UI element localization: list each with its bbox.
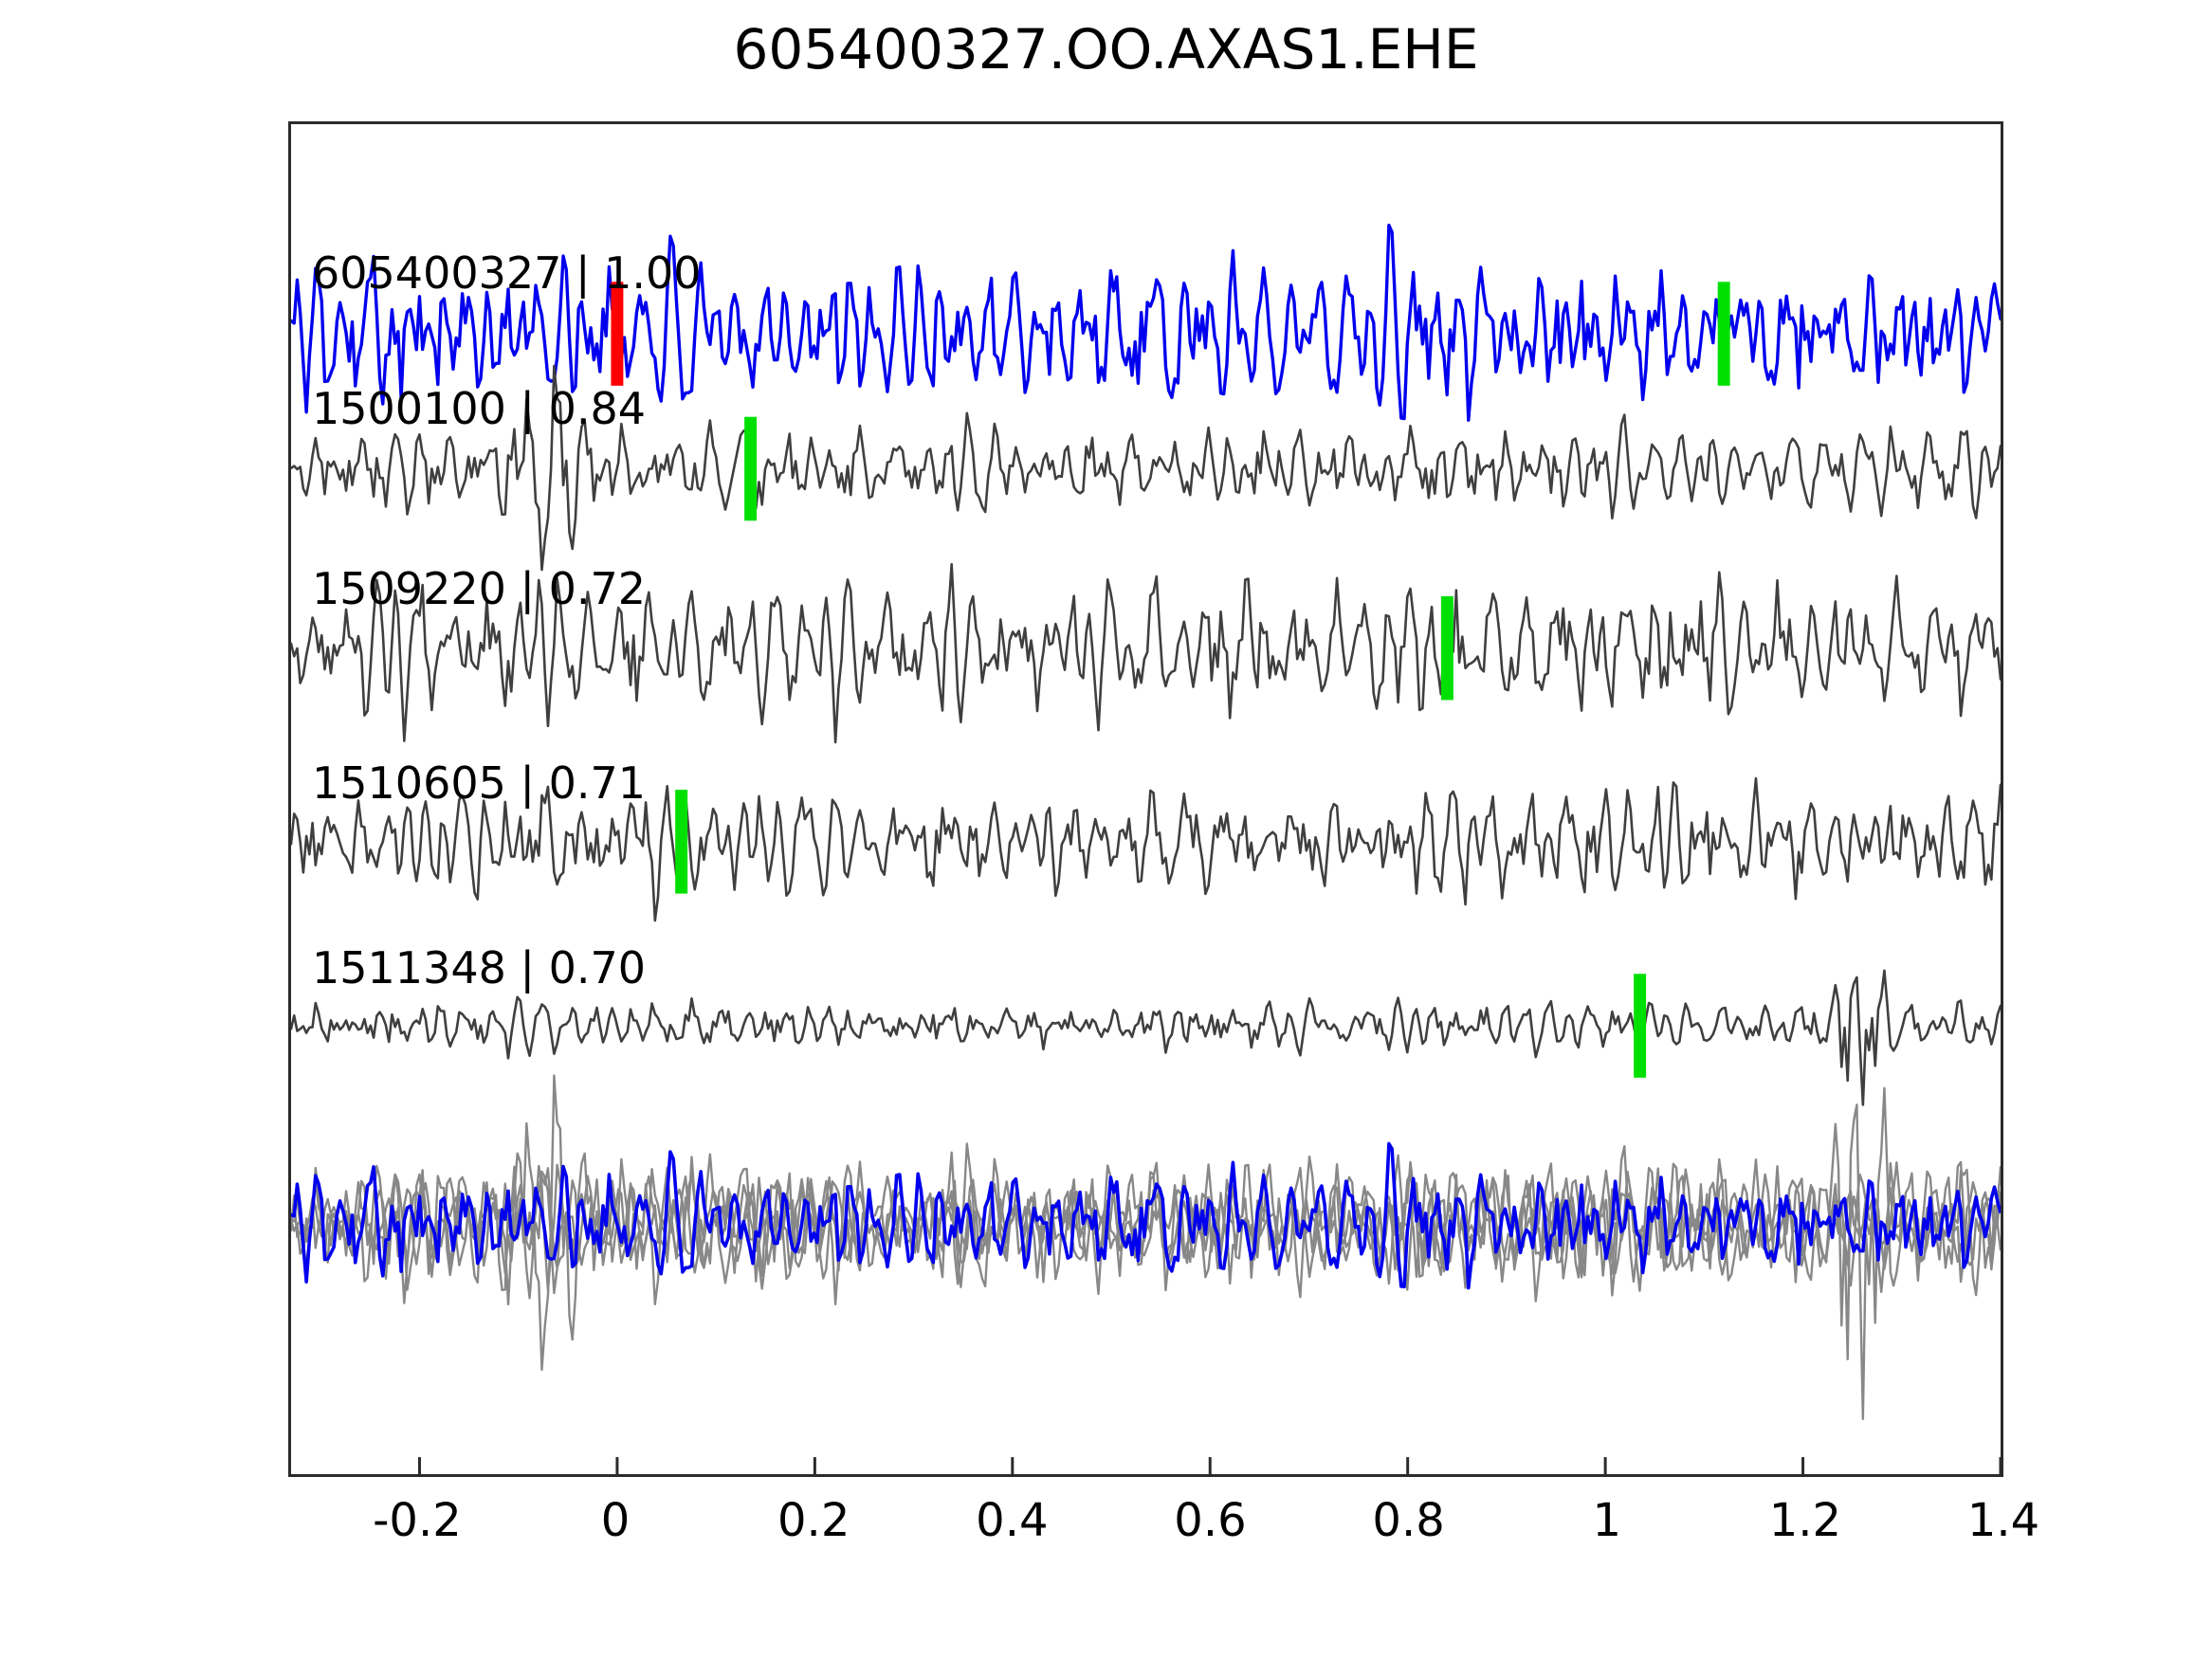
- x-tick-label: 1.2: [1769, 1494, 1841, 1547]
- x-tick-label: 0.4: [976, 1494, 1048, 1547]
- x-tick-label: -0.2: [373, 1494, 462, 1547]
- trace-label: 1509220 | 0.72: [312, 563, 646, 614]
- x-tick-label: 0.2: [777, 1494, 850, 1547]
- figure-root: 605400327.OO.AXAS1.EHE 605400327 | 1.001…: [0, 0, 2212, 1659]
- trace-label: 1500100 | 0.84: [312, 383, 646, 434]
- x-tick-label: 0: [601, 1494, 631, 1547]
- detection-pick-marker: [744, 417, 757, 521]
- trace-label: 605400327 | 1.00: [312, 247, 702, 299]
- overlay-reference-trace: [291, 1143, 2001, 1287]
- detection-pick-marker: [675, 790, 687, 894]
- page-title: 605400327.OO.AXAS1.EHE: [0, 17, 2212, 82]
- detection-pick-marker: [1634, 974, 1646, 1078]
- trace-label: 1510605 | 0.71: [312, 757, 646, 809]
- detection-pick-marker: [1441, 596, 1453, 701]
- trace-label: 1511348 | 0.70: [312, 942, 646, 994]
- x-tick-label: 0.6: [1174, 1494, 1246, 1547]
- x-tick-label: 1: [1592, 1494, 1621, 1547]
- x-tick-label: 1.4: [1967, 1494, 2039, 1547]
- pick-markers-group: [611, 282, 1729, 1077]
- x-axis-tick-labels: -0.200.20.40.60.811.21.4: [0, 1494, 2212, 1570]
- plot-area: 605400327 | 1.001500100 | 0.841509220 | …: [288, 121, 2003, 1477]
- detection-pick-marker: [1718, 282, 1730, 386]
- axis-ticks-group: [419, 1457, 2001, 1474]
- x-tick-label: 0.8: [1372, 1494, 1444, 1547]
